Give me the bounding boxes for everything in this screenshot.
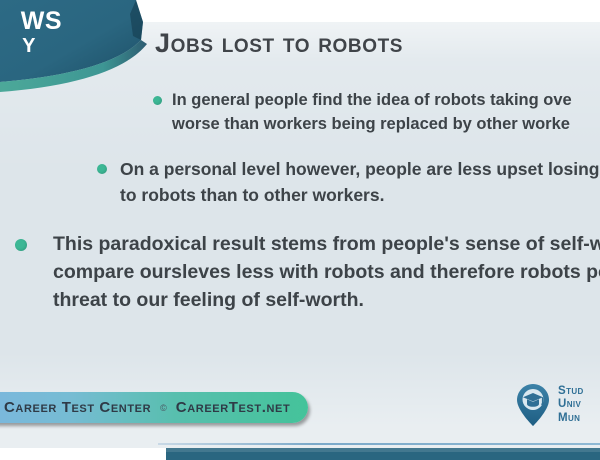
slide-canvas: WS Y Jobs lost to robots In general peop…	[0, 0, 600, 460]
footer-divider-line	[158, 443, 600, 445]
footer-white-gap	[0, 448, 166, 460]
list-item: In general people find the idea of robot…	[153, 88, 600, 136]
bullet-text: This paradoxical result stems from peopl…	[15, 230, 600, 314]
footer-brand-name: Career Test Center	[4, 399, 151, 416]
page-title: Jobs lost to robots	[155, 28, 403, 59]
list-item: This paradoxical result stems from peopl…	[15, 230, 600, 314]
university-logo: Stud Univ Mun	[516, 383, 584, 427]
list-item: On a personal level however, people are …	[97, 156, 600, 208]
bullet-text: In general people find the idea of robot…	[153, 88, 600, 136]
footer-site-name: CareerTest.net	[176, 399, 290, 416]
bullet-dot-icon	[153, 96, 162, 105]
bullet-dot-icon	[15, 239, 27, 251]
bullet-dot-icon	[97, 164, 107, 174]
footer-bottom-bar	[166, 448, 600, 460]
map-pin-graduation-cap-icon	[516, 383, 550, 427]
bullet-list: In general people find the idea of robot…	[0, 88, 600, 314]
copyright-icon: ©	[160, 403, 167, 413]
university-name: Stud Univ Mun	[558, 385, 584, 426]
bullet-text: On a personal level however, people are …	[97, 156, 600, 208]
footer-brand-badge[interactable]: Career Test Center © CareerTest.net	[0, 392, 308, 423]
